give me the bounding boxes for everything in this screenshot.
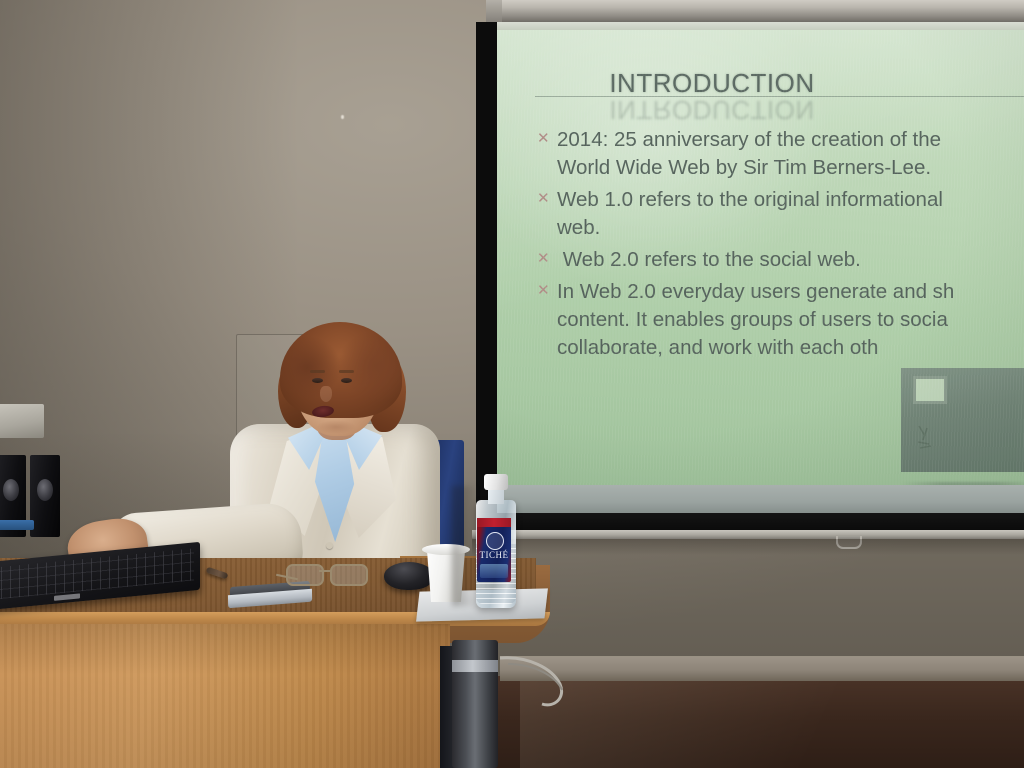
water-bottle-logo-icon: [486, 532, 504, 550]
eyeglass-lens-left: [286, 564, 324, 586]
water-bottle[interactable]: TICHÉ: [474, 474, 518, 608]
eyebrow-right: [339, 370, 354, 373]
projector-screen-drop-shadow: [472, 539, 1024, 555]
slide-embedded-image: [901, 368, 1024, 472]
speaker-cone-icon: [37, 479, 53, 501]
eyebrow-left: [310, 370, 325, 373]
water-bottle-cap[interactable]: [484, 474, 508, 490]
slide-bullet: ✕ In Web 2.0 everyday users generate and…: [537, 278, 1024, 362]
eyeglasses[interactable]: [286, 564, 366, 586]
desk-front-shading: [0, 624, 450, 768]
projector-screen-weight-bar: [472, 530, 1024, 539]
slide-bullet-line: Web 2.0 refers to the social web.: [537, 246, 1024, 274]
eye-right: [341, 378, 352, 383]
lecture-photo-scene: INTRODUCTION INTRODUCTION ✕ 2014: 25 ann…: [0, 0, 1024, 768]
slide-bullet-line: content. It enables groups of users to s…: [537, 306, 1024, 334]
blue-desk-object: [0, 520, 34, 530]
projector-screen-housing: [486, 0, 1024, 23]
wall-speck: [341, 115, 344, 119]
slide-bullet-line: collaborate, and work with each oth: [537, 334, 1024, 362]
projector-screen-top-edge: [497, 22, 1024, 30]
eyeglass-lens-right: [330, 564, 368, 586]
keyboard-logo: [54, 593, 80, 601]
water-bottle-brand: TICHÉ: [477, 550, 511, 560]
speaker-right: [30, 455, 60, 537]
slide-bullet: ✕ Web 1.0 refers to the original informa…: [537, 186, 1024, 242]
slide-body: ✕ 2014: 25 anniversary of the creation o…: [537, 126, 1024, 366]
jacket-button: [326, 542, 333, 549]
power-cable: [498, 654, 618, 712]
slide-bullet-line: World Wide Web by Sir Tim Berners-Lee.: [537, 154, 1024, 182]
slide-bullet-line: 2014: 25 anniversary of the creation of …: [537, 126, 1024, 154]
speaker-cone-icon: [3, 479, 19, 501]
eyeglass-bridge: [319, 570, 332, 572]
projected-slide: INTRODUCTION INTRODUCTION ✕ 2014: 25 ann…: [497, 30, 1024, 485]
slide-title-reflection: INTRODUCTION: [497, 94, 927, 125]
monitor-back: [0, 404, 44, 438]
chin-shadow: [316, 420, 356, 434]
slide-bullet: ✕ Web 2.0 refers to the social web.: [537, 246, 1024, 274]
slide-bullet-line: In Web 2.0 everyday users generate and s…: [537, 278, 1024, 306]
slide-embedded-image-highlight: [913, 376, 947, 404]
water-bottle-neck: [488, 488, 504, 504]
water-bottle-label-band: [477, 518, 511, 527]
slide-bullet-line: Web 1.0 refers to the original informati…: [537, 186, 1024, 214]
slide-bullet-line: web.: [537, 214, 1024, 242]
slide-bullet: ✕ 2014: 25 anniversary of the creation o…: [537, 126, 1024, 182]
eye-left: [312, 378, 323, 383]
water-bottle-label-image: [480, 564, 508, 578]
slide-title-divider: [535, 96, 1024, 97]
table-leg-collar: [452, 660, 498, 672]
projector-screen-housing-cap: [486, 0, 502, 22]
nose: [320, 386, 332, 402]
computer-mouse[interactable]: [384, 562, 434, 590]
projector-screen-lower-band: [497, 485, 1024, 513]
slide-embedded-image-detail: [915, 424, 951, 452]
